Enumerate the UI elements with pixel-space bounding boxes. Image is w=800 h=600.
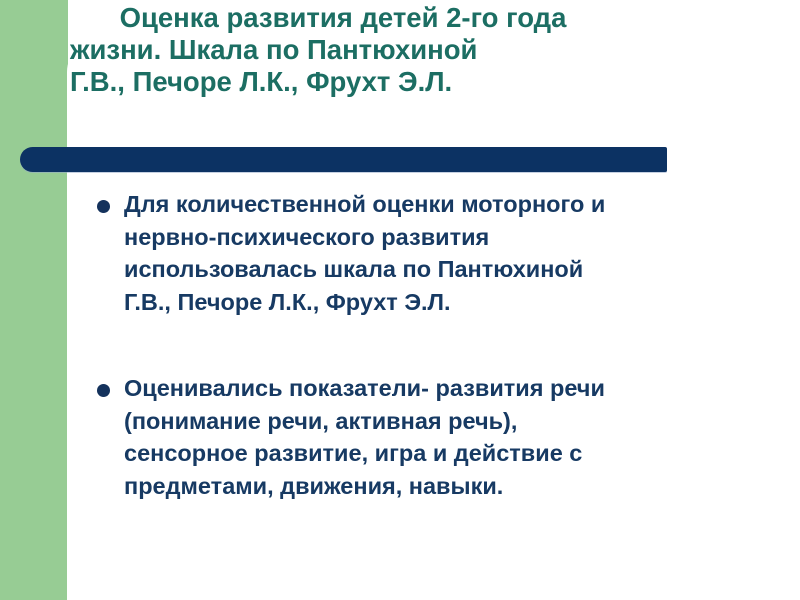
title-underline-bar: [20, 147, 667, 172]
list-item: Оценивались показатели- развития речи (п…: [96, 372, 768, 502]
list-item-text: Для количественной оценки моторного и не…: [124, 191, 605, 315]
slide-title: Оценка развития детей 2-го года жизни. Ш…: [68, 2, 768, 98]
bullet-dot-icon: [97, 200, 110, 213]
title-line-3: Г.В., Печоре Л.К., Фрухт Э.Л.: [68, 66, 768, 98]
list-item: Для количественной оценки моторного и не…: [96, 188, 768, 318]
list-item-text: Оценивались показатели- развития речи (п…: [124, 375, 605, 499]
left-green-band: [0, 0, 68, 600]
slide-canvas: Оценка развития детей 2-го года жизни. Ш…: [0, 0, 800, 600]
slide-body: Для количественной оценки моторного и не…: [96, 188, 768, 502]
title-line-2: жизни. Шкала по Пантюхиной: [68, 34, 768, 66]
bullet-dot-icon: [97, 384, 110, 397]
title-line-1: Оценка развития детей 2-го года: [68, 2, 768, 34]
